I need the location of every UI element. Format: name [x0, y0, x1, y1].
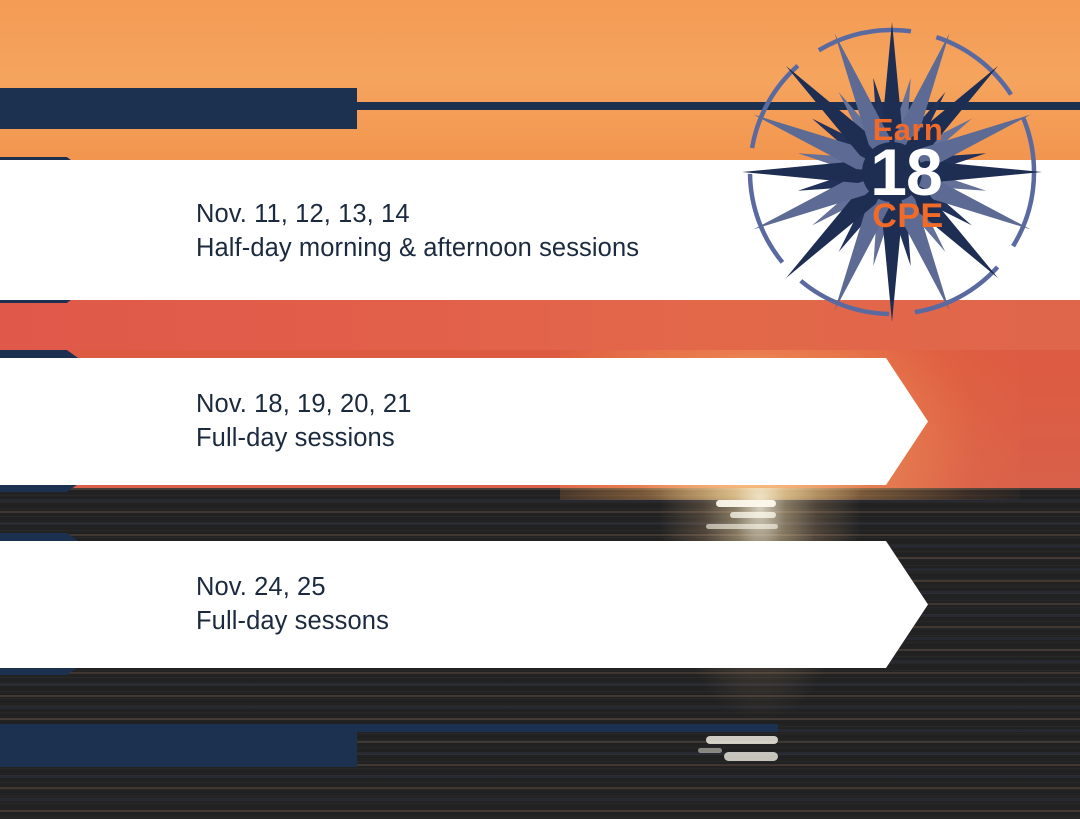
compass-rose-star-icon: [742, 22, 1042, 322]
schedule-row-2-dates: Nov. 18, 19, 20, 21: [196, 387, 412, 421]
bottom-rule-block: [0, 724, 357, 767]
schedule-row-2-detail: Full-day sessions: [196, 421, 412, 455]
schedule-row-2[interactable]: Nov. 18, 19, 20, 21 Full-day sessions: [0, 350, 930, 492]
water-glint: [724, 752, 778, 761]
schedule-banner-2: [0, 358, 928, 485]
schedule-row-3-text: Nov. 24, 25 Full-day sessons: [196, 570, 389, 638]
water-glint: [706, 736, 778, 744]
top-rule-block: [0, 88, 357, 129]
schedule-row-1-dates: Nov. 11, 12, 13, 14: [196, 197, 639, 231]
schedule-row-1-detail: Half-day morning & afternoon sessions: [196, 231, 639, 265]
bottom-rule-line: [352, 724, 778, 732]
water-glint: [716, 500, 776, 507]
schedule-row-3[interactable]: Nov. 24, 25 Full-day sessons: [0, 533, 930, 675]
water-glint: [706, 524, 778, 529]
schedule-row-1-text: Nov. 11, 12, 13, 14 Half-day morning & a…: [196, 197, 639, 265]
cpe-badge[interactable]: Earn 18 CPE: [722, 22, 1062, 322]
schedule-row-3-detail: Full-day sessons: [196, 604, 389, 638]
schedule-row-2-text: Nov. 18, 19, 20, 21 Full-day sessions: [196, 387, 412, 455]
water-glint: [730, 512, 776, 518]
schedule-row-3-dates: Nov. 24, 25: [196, 570, 389, 604]
water-glint: [698, 748, 722, 753]
schedule-banner-3: [0, 541, 928, 668]
poster-canvas: Nov. 11, 12, 13, 14 Half-day morning & a…: [0, 0, 1080, 819]
